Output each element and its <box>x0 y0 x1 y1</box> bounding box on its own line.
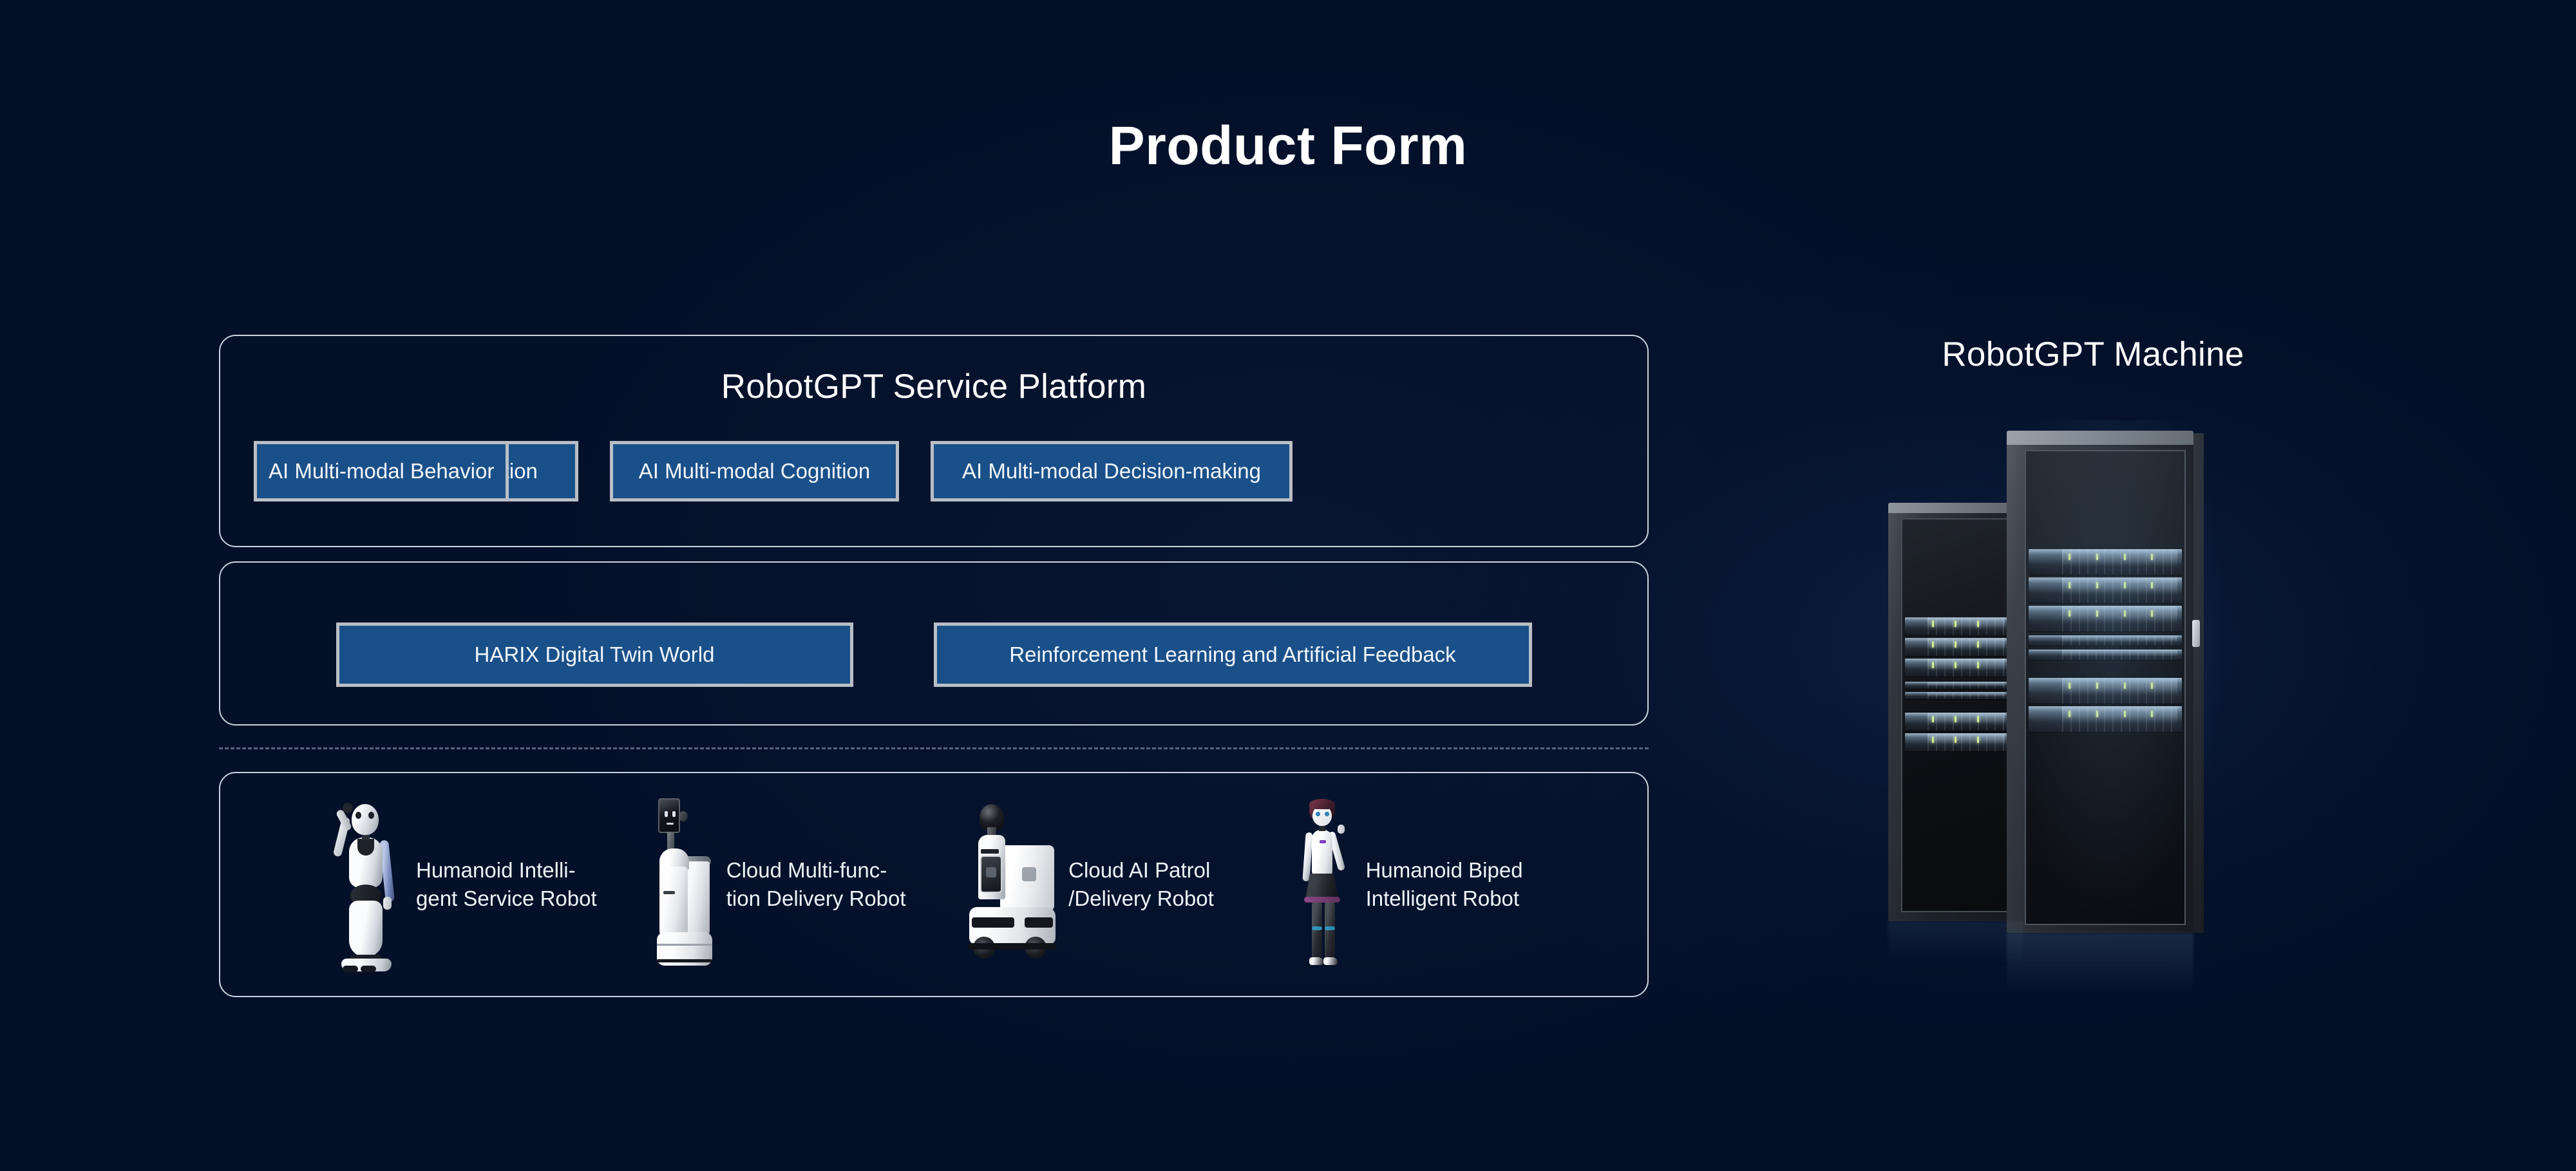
machine-title: RobotGPT Machine <box>1868 335 2318 374</box>
product-label: Humanoid Biped Intelligent Robot <box>1366 856 1523 913</box>
product-label: Cloud AI Patrol /Delivery Robot <box>1068 856 1214 913</box>
platform-title: RobotGPT Service Platform <box>220 336 1647 406</box>
product-label: Humanoid Intelli- gent Service Robot <box>416 856 597 913</box>
product-item-humanoid-service-robot[interactable]: Humanoid Intelli- gent Service Robot <box>323 798 640 971</box>
capability-button-decision-making[interactable]: AI Multi-modal Decision-making <box>931 441 1293 501</box>
product-label: Cloud Multi-func- tion Delivery Robot <box>726 856 906 913</box>
capability-button-cognition[interactable]: AI Multi-modal Cognition <box>610 441 899 501</box>
product-item-cloud-delivery-robot[interactable]: Cloud Multi-func- tion Delivery Robot <box>640 794 963 975</box>
foundation-panel: HARIX Digital Twin World Reinforcement L… <box>219 561 1649 726</box>
platform-panel: RobotGPT Service Platform AI Multi-modal… <box>219 335 1649 547</box>
product-item-cloud-patrol-robot[interactable]: Cloud AI Patrol /Delivery Robot <box>963 791 1285 978</box>
humanoid-biped-robot-icon <box>1286 791 1357 978</box>
humanoid-service-robot-icon <box>323 798 407 971</box>
product-row: Humanoid Intelli- gent Service Robot <box>220 773 1647 996</box>
cloud-delivery-robot-icon <box>640 794 717 975</box>
capability-row: AI Multi-modal Perception AI Multi-modal… <box>220 441 1647 501</box>
product-item-humanoid-biped-robot[interactable]: Humanoid Biped Intelligent Robot <box>1286 791 1609 978</box>
server-rack-icon <box>1880 408 2267 1019</box>
foundation-row: HARIX Digital Twin World Reinforcement L… <box>220 563 1647 687</box>
cloud-patrol-robot-icon <box>963 791 1059 978</box>
foundation-button-harix-digital-twin[interactable]: HARIX Digital Twin World <box>336 623 853 687</box>
left-column: RobotGPT Service Platform AI Multi-modal… <box>219 335 1649 997</box>
section-divider <box>219 747 1649 749</box>
products-panel: Humanoid Intelli- gent Service Robot <box>219 772 1649 997</box>
page-title: Product Form <box>0 115 2576 177</box>
foundation-button-reinforcement-learning[interactable]: Reinforcement Learning and Artificial Fe… <box>934 623 1532 687</box>
capability-button-behavior[interactable]: AI Multi-modal Behavior <box>254 441 509 501</box>
right-column: RobotGPT Machine <box>1868 335 2318 1019</box>
